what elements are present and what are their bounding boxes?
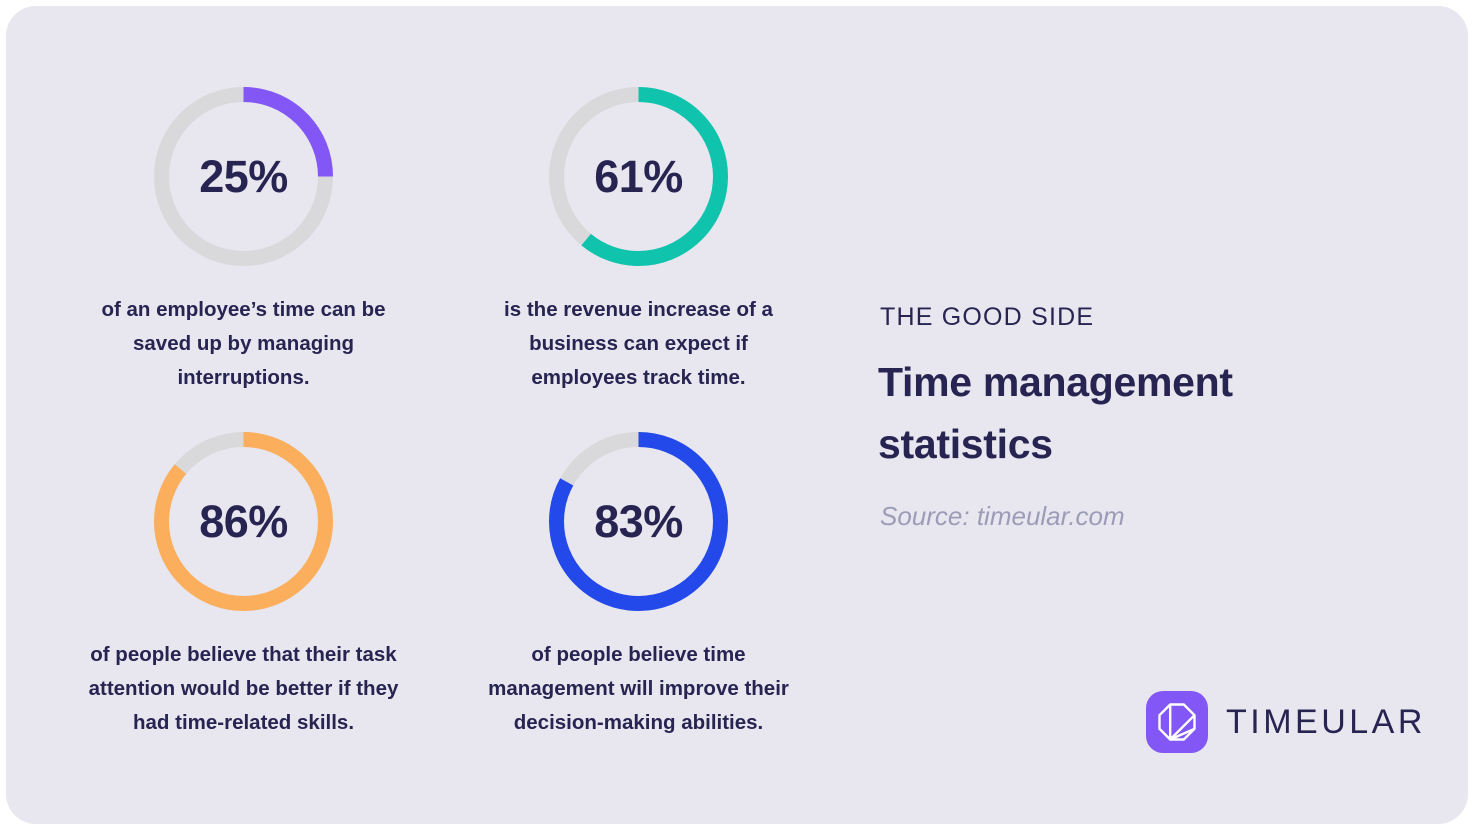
source-attribution: Source: timeular.com: [880, 501, 1125, 532]
donut-chart-2: 61%: [548, 86, 729, 267]
stat-caption-4: of people believe time management will i…: [474, 638, 804, 739]
page-title: Time management statistics: [878, 351, 1308, 476]
stat-caption-1: of an employee’s time can be saved up by…: [79, 293, 409, 394]
statistics-grid: 25% of an employee’s time can be saved u…: [46, 86, 836, 816]
infographic-card: 25% of an employee’s time can be saved u…: [6, 6, 1468, 824]
donut-chart-4: 83%: [548, 431, 729, 612]
donut-value-4: 83%: [548, 431, 729, 612]
section-kicker: THE GOOD SIDE: [880, 303, 1094, 332]
stat-card-4: 83% of people believe time management wi…: [441, 431, 836, 776]
brand-logo: TIMEULAR: [1146, 691, 1426, 753]
stat-caption-3: of people believe that their task attent…: [79, 638, 409, 739]
donut-chart-1: 25%: [153, 86, 334, 267]
donut-value-2: 61%: [548, 86, 729, 267]
octagon-glyph: [1155, 700, 1199, 744]
stat-card-1: 25% of an employee’s time can be saved u…: [46, 86, 441, 431]
right-panel: THE GOOD SIDE Time management statistics…: [874, 6, 1434, 824]
donut-chart-3: 86%: [153, 431, 334, 612]
donut-value-1: 25%: [153, 86, 334, 267]
stat-card-2: 61% is the revenue increase of a busines…: [441, 86, 836, 431]
stat-caption-2: is the revenue increase of a business ca…: [474, 293, 804, 394]
brand-wordmark: TIMEULAR: [1226, 703, 1426, 742]
stat-card-3: 86% of people believe that their task at…: [46, 431, 441, 776]
donut-value-3: 86%: [153, 431, 334, 612]
timeular-octagon-icon: [1146, 691, 1208, 753]
